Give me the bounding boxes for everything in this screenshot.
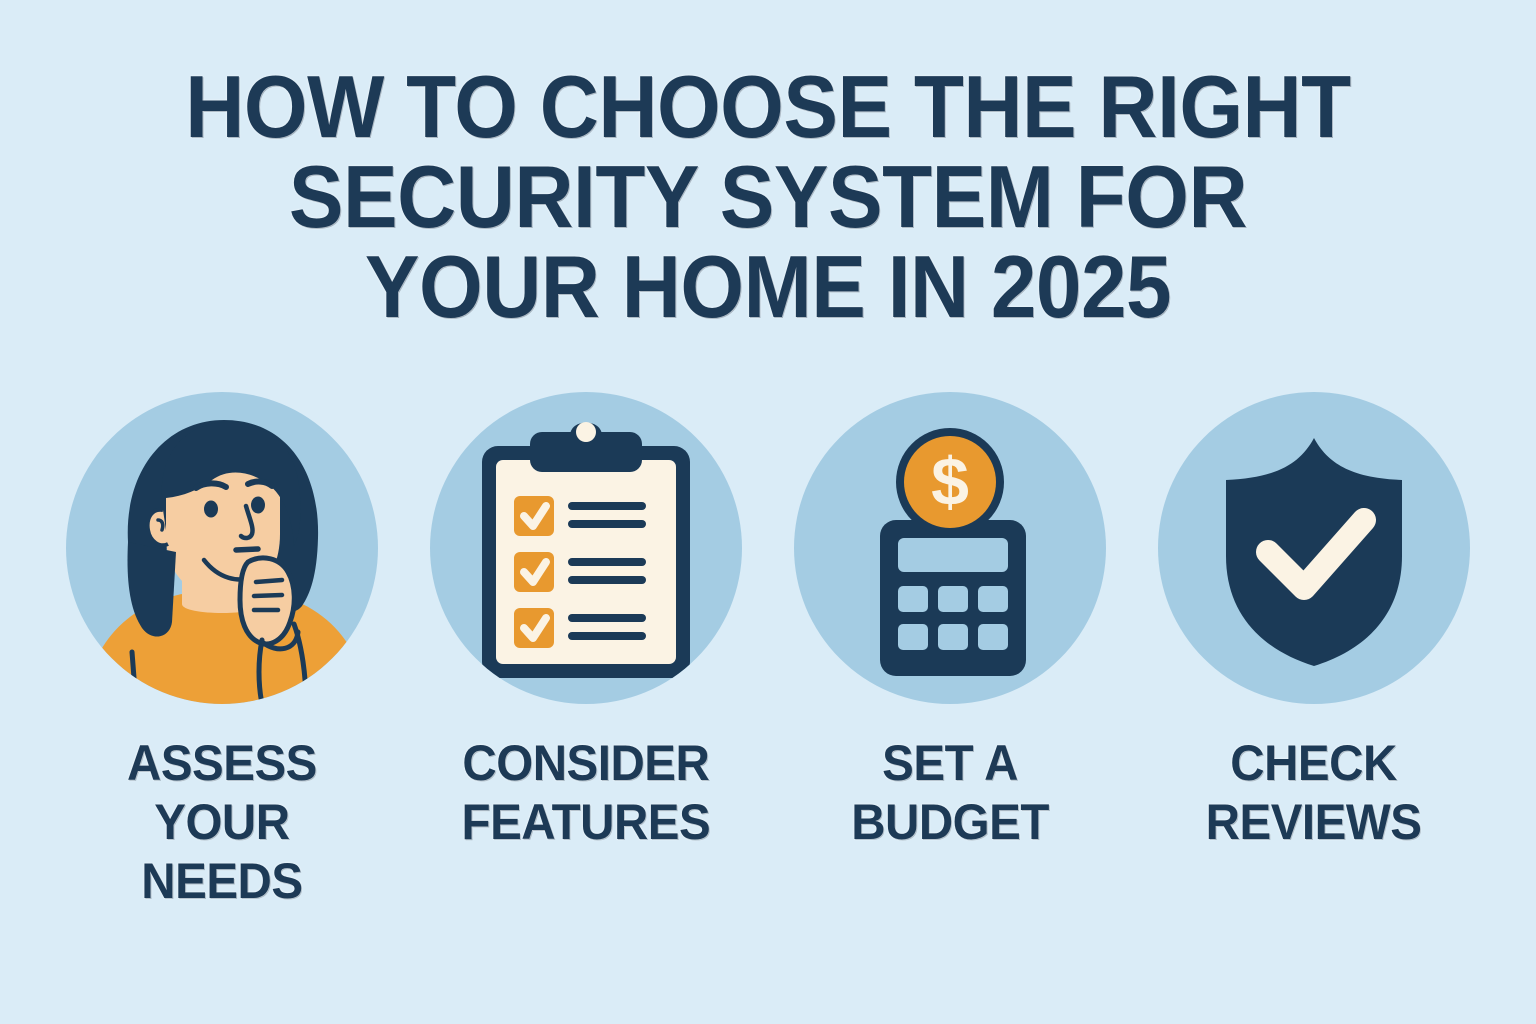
step-card-assess-your-needs: ASSESS YOUR NEEDS <box>52 392 392 911</box>
step-card-check-reviews: CHECK REVIEWS <box>1144 392 1484 852</box>
step-label-2: CONSIDER FEATURES <box>462 734 711 852</box>
step-card-set-a-budget: $ SET A BUDGET <box>780 392 1120 852</box>
step-label-1: ASSESS YOUR NEEDS <box>127 734 317 911</box>
infographic-poster: HOW TO CHOOSE THE RIGHT SECURITY SYSTEM … <box>0 0 1536 1024</box>
step-label-4: CHECK REVIEWS <box>1206 734 1422 852</box>
icon-circle-1 <box>66 392 378 704</box>
title-line-2: SECURITY SYSTEM FOR <box>54 152 1482 242</box>
step-card-consider-features: CONSIDER FEATURES <box>416 392 756 852</box>
svg-text:$: $ <box>931 444 969 520</box>
thinking-woman-icon <box>66 392 378 704</box>
title-line-1: HOW TO CHOOSE THE RIGHT <box>54 62 1482 152</box>
shield-check-icon <box>1158 392 1470 704</box>
icon-circle-4 <box>1158 392 1470 704</box>
clipboard-checklist-icon <box>430 392 742 704</box>
icon-circle-3: $ <box>794 392 1106 704</box>
icon-circle-2 <box>430 392 742 704</box>
step-label-3: SET A BUDGET <box>851 734 1049 852</box>
steps-row: ASSESS YOUR NEEDS <box>0 392 1536 992</box>
calculator-dollar-icon: $ <box>794 392 1106 704</box>
title-line-3: YOUR HOME IN 2025 <box>54 242 1482 332</box>
page-title: HOW TO CHOOSE THE RIGHT SECURITY SYSTEM … <box>0 62 1536 332</box>
